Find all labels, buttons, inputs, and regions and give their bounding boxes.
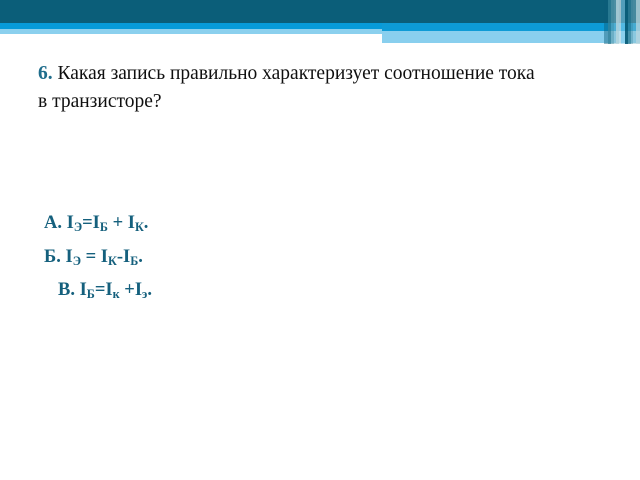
question-block: 6. Какая запись правильно характеризует … bbox=[38, 60, 538, 115]
question-text: Какая запись правильно характеризует соо… bbox=[38, 63, 535, 112]
formula-subscript: Б bbox=[130, 254, 138, 268]
answer-label: Б. bbox=[44, 247, 65, 267]
formula-symbol: IБ bbox=[80, 280, 95, 300]
formula-operator: + bbox=[120, 280, 135, 300]
slide-canvas: 6. Какая запись правильно характеризует … bbox=[0, 0, 640, 480]
slide-header-decoration bbox=[0, 0, 640, 46]
header-band-dark bbox=[0, 0, 640, 23]
header-stripe bbox=[636, 0, 640, 44]
formula-operator: . bbox=[144, 213, 149, 233]
formula-operator: = bbox=[82, 213, 93, 233]
answer-label: В. bbox=[58, 280, 80, 300]
answer-options-list: А. IЭ=IБ + IК. Б. IЭ = IК-IБ. В. IБ=Iк +… bbox=[0, 214, 640, 315]
formula-symbol: IЭ bbox=[67, 213, 82, 233]
formula-operator: . bbox=[147, 280, 152, 300]
header-band-pale-left bbox=[0, 29, 382, 34]
formula-symbol: Iэ bbox=[135, 280, 147, 300]
formula-symbol: Iк bbox=[105, 280, 119, 300]
header-band-pale-right bbox=[382, 31, 640, 43]
formula-subscript: э bbox=[142, 287, 147, 301]
question-number: 6. bbox=[38, 63, 53, 84]
formula-subscript: Б bbox=[87, 287, 95, 301]
answer-option-b[interactable]: Б. IЭ = IК-IБ. bbox=[0, 248, 640, 267]
formula-symbol: IЭ bbox=[65, 247, 80, 267]
formula-operator: = bbox=[95, 280, 106, 300]
header-band-bright-right bbox=[382, 23, 640, 31]
formula-subscript: К bbox=[108, 254, 117, 268]
formula-symbol: IБ bbox=[93, 213, 108, 233]
header-stripe-accents bbox=[604, 0, 640, 44]
formula-subscript: Э bbox=[73, 254, 81, 268]
answer-option-a[interactable]: А. IЭ=IБ + IК. bbox=[0, 214, 640, 233]
answer-option-v[interactable]: В. IБ=Iк +Iэ. bbox=[0, 281, 640, 300]
slide-body: 6. Какая запись правильно характеризует … bbox=[0, 46, 640, 480]
formula-symbol: IК bbox=[128, 213, 144, 233]
formula-subscript: к bbox=[113, 287, 120, 301]
formula-operator: = bbox=[81, 247, 101, 267]
formula-subscript: Б bbox=[100, 220, 108, 234]
formula-symbol: IБ bbox=[123, 247, 138, 267]
formula-subscript: К bbox=[135, 220, 144, 234]
formula-subscript: Э bbox=[74, 220, 82, 234]
answer-label: А. bbox=[44, 213, 67, 233]
formula-operator: . bbox=[138, 247, 143, 267]
formula-operator: + bbox=[108, 213, 128, 233]
formula-symbol: IК bbox=[101, 247, 117, 267]
